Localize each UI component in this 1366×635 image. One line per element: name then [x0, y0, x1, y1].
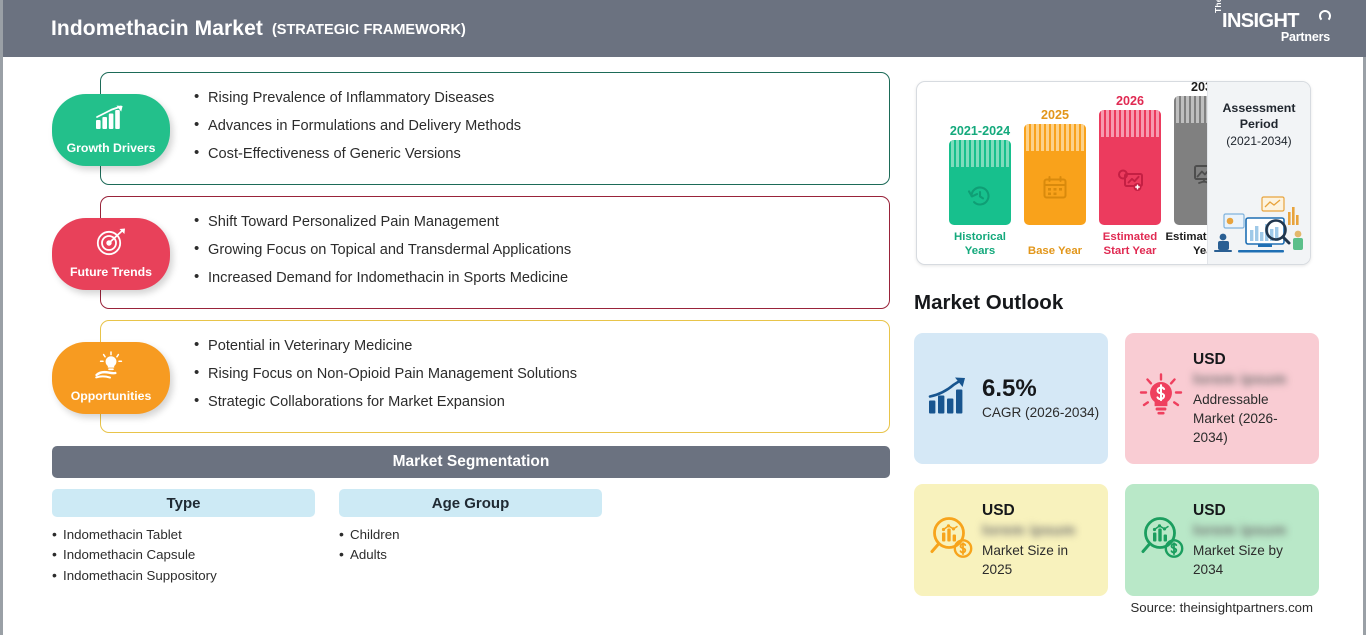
growth-drivers-bullet-list: Rising Prevalence of Inflammatory Diseas…	[194, 73, 889, 168]
market-segmentation-title: Market Segmentation	[52, 446, 890, 478]
opportunities-bullet-list: Potential in Veterinary Medicine Rising …	[194, 321, 889, 416]
future-trends-bullet-list: Shift Toward Personalized Pain Managemen…	[194, 197, 889, 292]
addressable-market-label: Addressable Market (2026-2034)	[1193, 390, 1311, 447]
timeline-bar	[949, 140, 1011, 225]
timeline-year: 2021-2024	[941, 124, 1019, 138]
list-item: Rising Prevalence of Inflammatory Diseas…	[194, 84, 889, 112]
data-analysis-illustration	[1210, 196, 1309, 258]
list-item: Increased Demand for Indomethacin in Spo…	[194, 264, 889, 292]
list-item: Potential in Veterinary Medicine	[194, 332, 889, 360]
section-panel-future-trends: Shift Toward Personalized Pain Managemen…	[100, 196, 890, 309]
currency-label: USD	[982, 501, 1100, 520]
page-header: Indomethacin Market (STRATEGIC FRAMEWORK…	[3, 0, 1366, 57]
card-addressable-market: USD lorem ipsum Addressable Market (2026…	[1125, 333, 1319, 464]
cagr-label: CAGR (2026-2034)	[982, 403, 1100, 422]
redacted-value: lorem ipsum	[1193, 369, 1311, 390]
segmentation-column-age-group: Age Group Children Adults	[339, 489, 602, 566]
magnifier-chart-dollar-icon	[927, 516, 975, 565]
badge-label: Future Trends	[52, 265, 170, 279]
clock-rewind-icon	[949, 167, 1011, 225]
timeline-bar	[1099, 110, 1161, 225]
list-item: Indomethacin Capsule	[52, 545, 315, 565]
currency-label: USD	[1193, 350, 1311, 369]
target-dart-icon	[52, 227, 170, 257]
bar-stripe	[1099, 110, 1161, 137]
section-panel-opportunities: Potential in Veterinary Medicine Rising …	[100, 320, 890, 433]
market-outlook-title: Market Outlook	[914, 291, 1063, 315]
currency-label: USD	[1193, 501, 1311, 520]
redacted-value: lorem ipsum	[982, 520, 1100, 541]
card-size-2034-body: USD lorem ipsum Market Size by 2034	[1193, 484, 1311, 596]
list-item: Shift Toward Personalized Pain Managemen…	[194, 208, 889, 236]
market-size-2025-label: Market Size in 2025	[982, 541, 1100, 579]
segmentation-age-group-list: Children Adults	[339, 525, 602, 566]
card-market-size-2025: USD lorem ipsum Market Size in 2025	[914, 484, 1108, 596]
page-subtitle: (STRATEGIC FRAMEWORK)	[272, 22, 466, 38]
list-item: Rising Focus on Non-Opioid Pain Manageme…	[194, 360, 889, 388]
bar-chart-arrow-icon	[52, 103, 170, 133]
list-item: Advances in Formulations and Delivery Me…	[194, 112, 889, 140]
chart-gear-icon	[1099, 137, 1161, 225]
timeline-caption: Historical Years	[940, 231, 1020, 258]
cagr-value: 6.5%	[982, 375, 1100, 403]
timeline-caption: Base Year	[1015, 245, 1095, 259]
infographic-page: Indomethacin Market (STRATEGIC FRAMEWORK…	[0, 0, 1366, 635]
magnifier-chart-dollar-icon	[1138, 516, 1186, 565]
redacted-value: lorem ipsum	[1193, 520, 1311, 541]
lightbulb-hand-icon	[52, 351, 170, 381]
bar-stripe	[1024, 124, 1086, 151]
market-size-2034-label: Market Size by 2034	[1193, 541, 1311, 579]
segmentation-column-type: Type Indomethacin Tablet Indomethacin Ca…	[52, 489, 315, 586]
timeline-year: 2025	[1016, 108, 1094, 122]
segmentation-column-header: Age Group	[339, 489, 602, 517]
badge-future-trends: Future Trends	[52, 218, 170, 290]
logo-circle-icon	[1319, 10, 1331, 22]
insight-partners-logo: The INSIGHT Partners	[1213, 9, 1333, 49]
timeline-year: 2026	[1091, 94, 1169, 108]
assessment-period-block: Assessment Period (2021-2034)	[1207, 82, 1310, 264]
badge-opportunities: Opportunities	[52, 342, 170, 414]
list-item: Strategic Collaborations for Market Expa…	[194, 388, 889, 416]
segmentation-type-list: Indomethacin Tablet Indomethacin Capsule…	[52, 525, 315, 586]
card-addressable-body: USD lorem ipsum Addressable Market (2026…	[1193, 333, 1311, 464]
bar-stripe	[949, 140, 1011, 167]
badge-label: Opportunities	[52, 389, 170, 403]
logo-partners-text: Partners	[1281, 30, 1330, 44]
source-attribution: Source: theinsightpartners.com	[1130, 600, 1313, 615]
badge-growth-drivers: Growth Drivers	[52, 94, 170, 166]
list-item: Indomethacin Suppository	[52, 566, 315, 586]
card-market-size-2034: USD lorem ipsum Market Size by 2034	[1125, 484, 1319, 596]
lightbulb-dollar-icon	[1138, 372, 1184, 425]
timeline-bars: 2021-2024 Historical Years 2025	[917, 82, 1207, 264]
segmentation-column-header: Type	[52, 489, 315, 517]
assessment-period-range: (2021-2034)	[1210, 134, 1308, 148]
list-item: Cost-Effectiveness of Generic Versions	[194, 140, 889, 168]
card-cagr-body: 6.5% CAGR (2026-2034)	[982, 333, 1100, 464]
timeline-caption: Estimated Start Year	[1090, 231, 1170, 258]
badge-label: Growth Drivers	[52, 141, 170, 155]
list-item: Indomethacin Tablet	[52, 525, 315, 545]
list-item: Children	[339, 525, 602, 545]
list-item: Adults	[339, 545, 602, 565]
timeline-bar	[1024, 124, 1086, 225]
calendar-icon	[1024, 151, 1086, 225]
page-title: Indomethacin Market	[51, 17, 263, 41]
assessment-period-title: Assessment Period	[1212, 100, 1306, 132]
list-item: Growing Focus on Topical and Transdermal…	[194, 236, 889, 264]
assessment-timeline-panel: 2021-2024 Historical Years 2025	[916, 81, 1311, 265]
section-panel-growth-drivers: Rising Prevalence of Inflammatory Diseas…	[100, 72, 890, 185]
growth-bar-chart-icon	[927, 376, 973, 421]
card-size-2025-body: USD lorem ipsum Market Size in 2025	[982, 484, 1100, 596]
card-cagr: 6.5% CAGR (2026-2034)	[914, 333, 1108, 464]
